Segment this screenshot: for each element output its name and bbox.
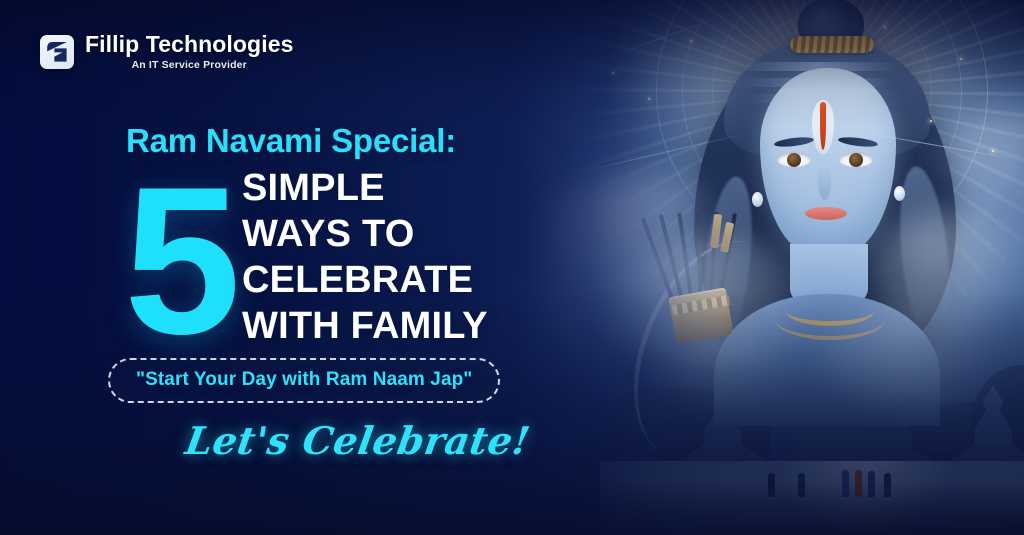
celebrate-script-text: Let's Celebrate! <box>182 418 533 463</box>
headline-line: SIMPLE <box>242 166 488 210</box>
copy-block: Ram Navami Special: 5 SIMPLE WAYS TO CEL… <box>0 0 560 535</box>
brand-logo-text: Fillip Technologies An IT Service Provid… <box>85 33 293 71</box>
big-number-five: 5 <box>124 156 233 366</box>
fillip-f-logo-icon <box>40 35 74 69</box>
ram-navami-banner: Fillip Technologies An IT Service Provid… <box>0 0 1024 535</box>
headline-line: WAYS TO <box>242 212 488 256</box>
headline-line: CELEBRATE <box>242 258 488 302</box>
brand-tagline: An IT Service Provider <box>85 60 293 71</box>
headline-group: 5 SIMPLE WAYS TO CELEBRATE WITH FAMILY <box>124 162 544 342</box>
headline-line: WITH FAMILY <box>242 304 488 348</box>
headline-lines: SIMPLE WAYS TO CELEBRATE WITH FAMILY <box>242 166 488 348</box>
brand-logo[interactable]: Fillip Technologies An IT Service Provid… <box>40 33 293 71</box>
brand-name: Fillip Technologies <box>85 33 293 56</box>
